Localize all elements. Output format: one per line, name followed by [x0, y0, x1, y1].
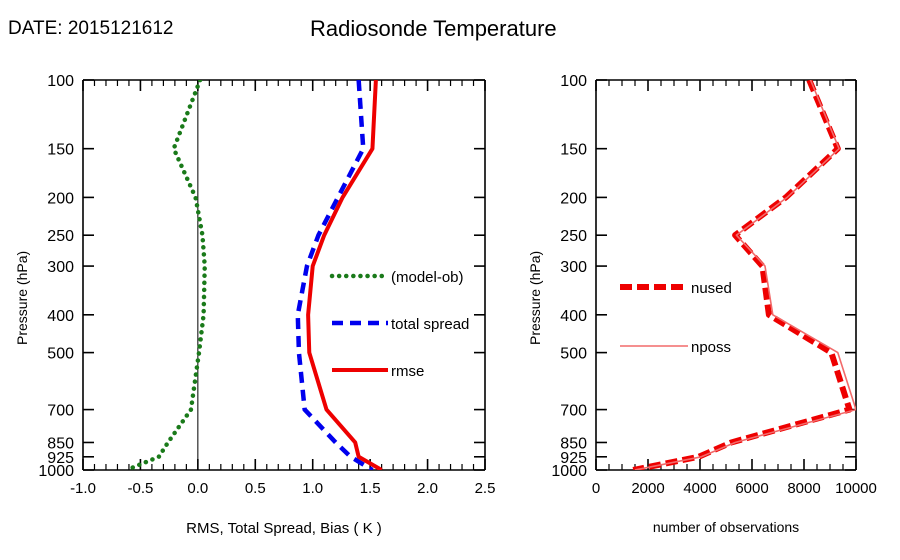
x-tick-label: 6000	[735, 480, 768, 497]
y-tick-label: 300	[560, 259, 587, 276]
y-tick-label: 100	[560, 73, 587, 90]
right-panel-x-axis-title: number of observations	[596, 519, 856, 535]
series-line-nposs	[635, 80, 856, 470]
y-tick-label: 250	[560, 228, 587, 245]
x-tick-label: 8000	[787, 480, 820, 497]
x-tick-label: 10000	[835, 480, 877, 497]
y-tick-label: 500	[560, 346, 587, 363]
y-tick-label: 150	[560, 142, 587, 159]
y-tick-label: 200	[560, 190, 587, 207]
x-tick-label: 2000	[631, 480, 664, 497]
x-tick-label: 4000	[683, 480, 716, 497]
series-line-nused	[633, 80, 849, 470]
y-tick-label: 400	[560, 308, 587, 325]
legend-label: nposs	[691, 339, 731, 356]
legend-label: nused	[691, 280, 732, 297]
y-tick-label: 1000	[551, 463, 587, 480]
right-panel-plot: 0200040006000800010000100150200250300400…	[0, 0, 900, 560]
x-tick-label: 0	[592, 480, 600, 497]
figure-root: DATE: 2015121612 Radiosonde Temperature …	[0, 0, 900, 560]
y-tick-label: 700	[560, 403, 587, 420]
legend: nusednposs	[620, 280, 732, 356]
